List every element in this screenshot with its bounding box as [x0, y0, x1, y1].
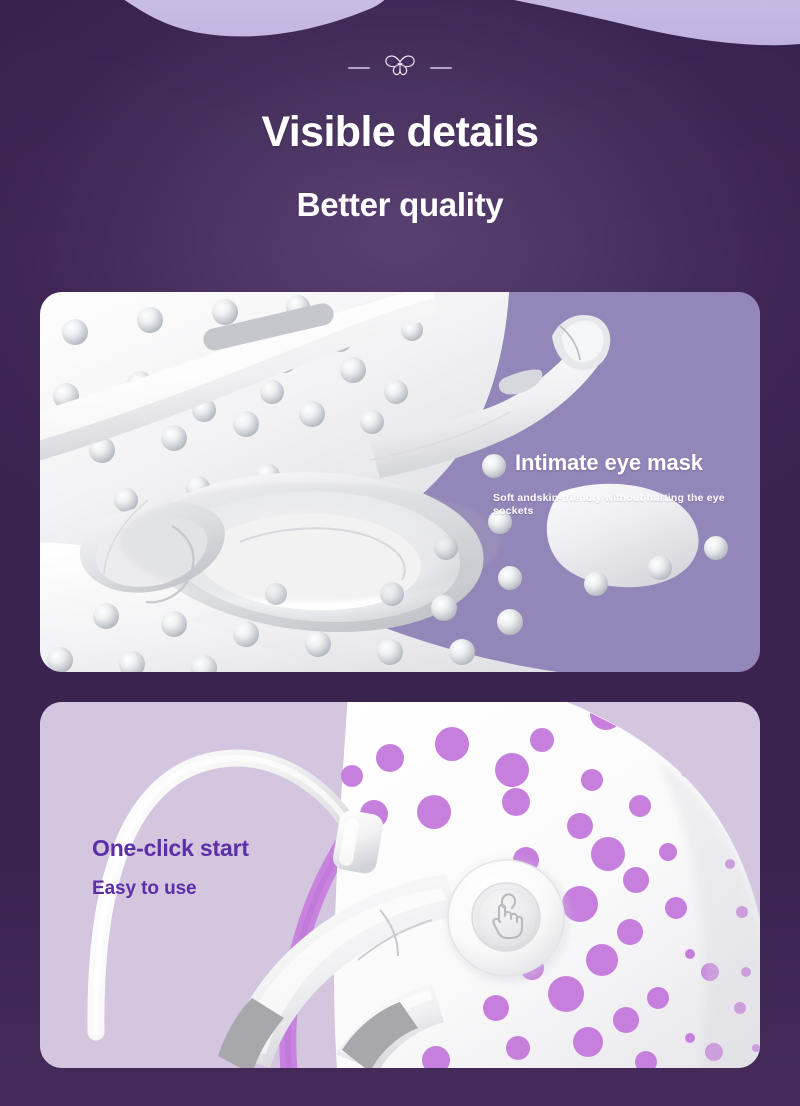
- divider-dash-left: [348, 67, 370, 69]
- page-subtitle: Better quality: [0, 186, 800, 224]
- panel-one-title: Intimate eye mask: [515, 450, 703, 476]
- page-title: Visible details: [0, 108, 800, 157]
- eye-mask-closeup-image: [40, 292, 760, 672]
- butterfly-icon: [383, 53, 417, 83]
- feature-panel-intimate-eye-mask: Intimate eye mask Soft andskin-friendly …: [40, 292, 760, 672]
- ornament-divider: [0, 53, 800, 83]
- divider-dash-right: [430, 67, 452, 69]
- panel-two-subtitle: Easy to use: [92, 878, 197, 900]
- feature-panel-one-click-start: One-click start Easy to use: [40, 702, 760, 1068]
- panel-two-title: One-click start: [92, 835, 249, 862]
- panel-one-subtitle: Soft andskin-friendly without hurting th…: [493, 492, 755, 518]
